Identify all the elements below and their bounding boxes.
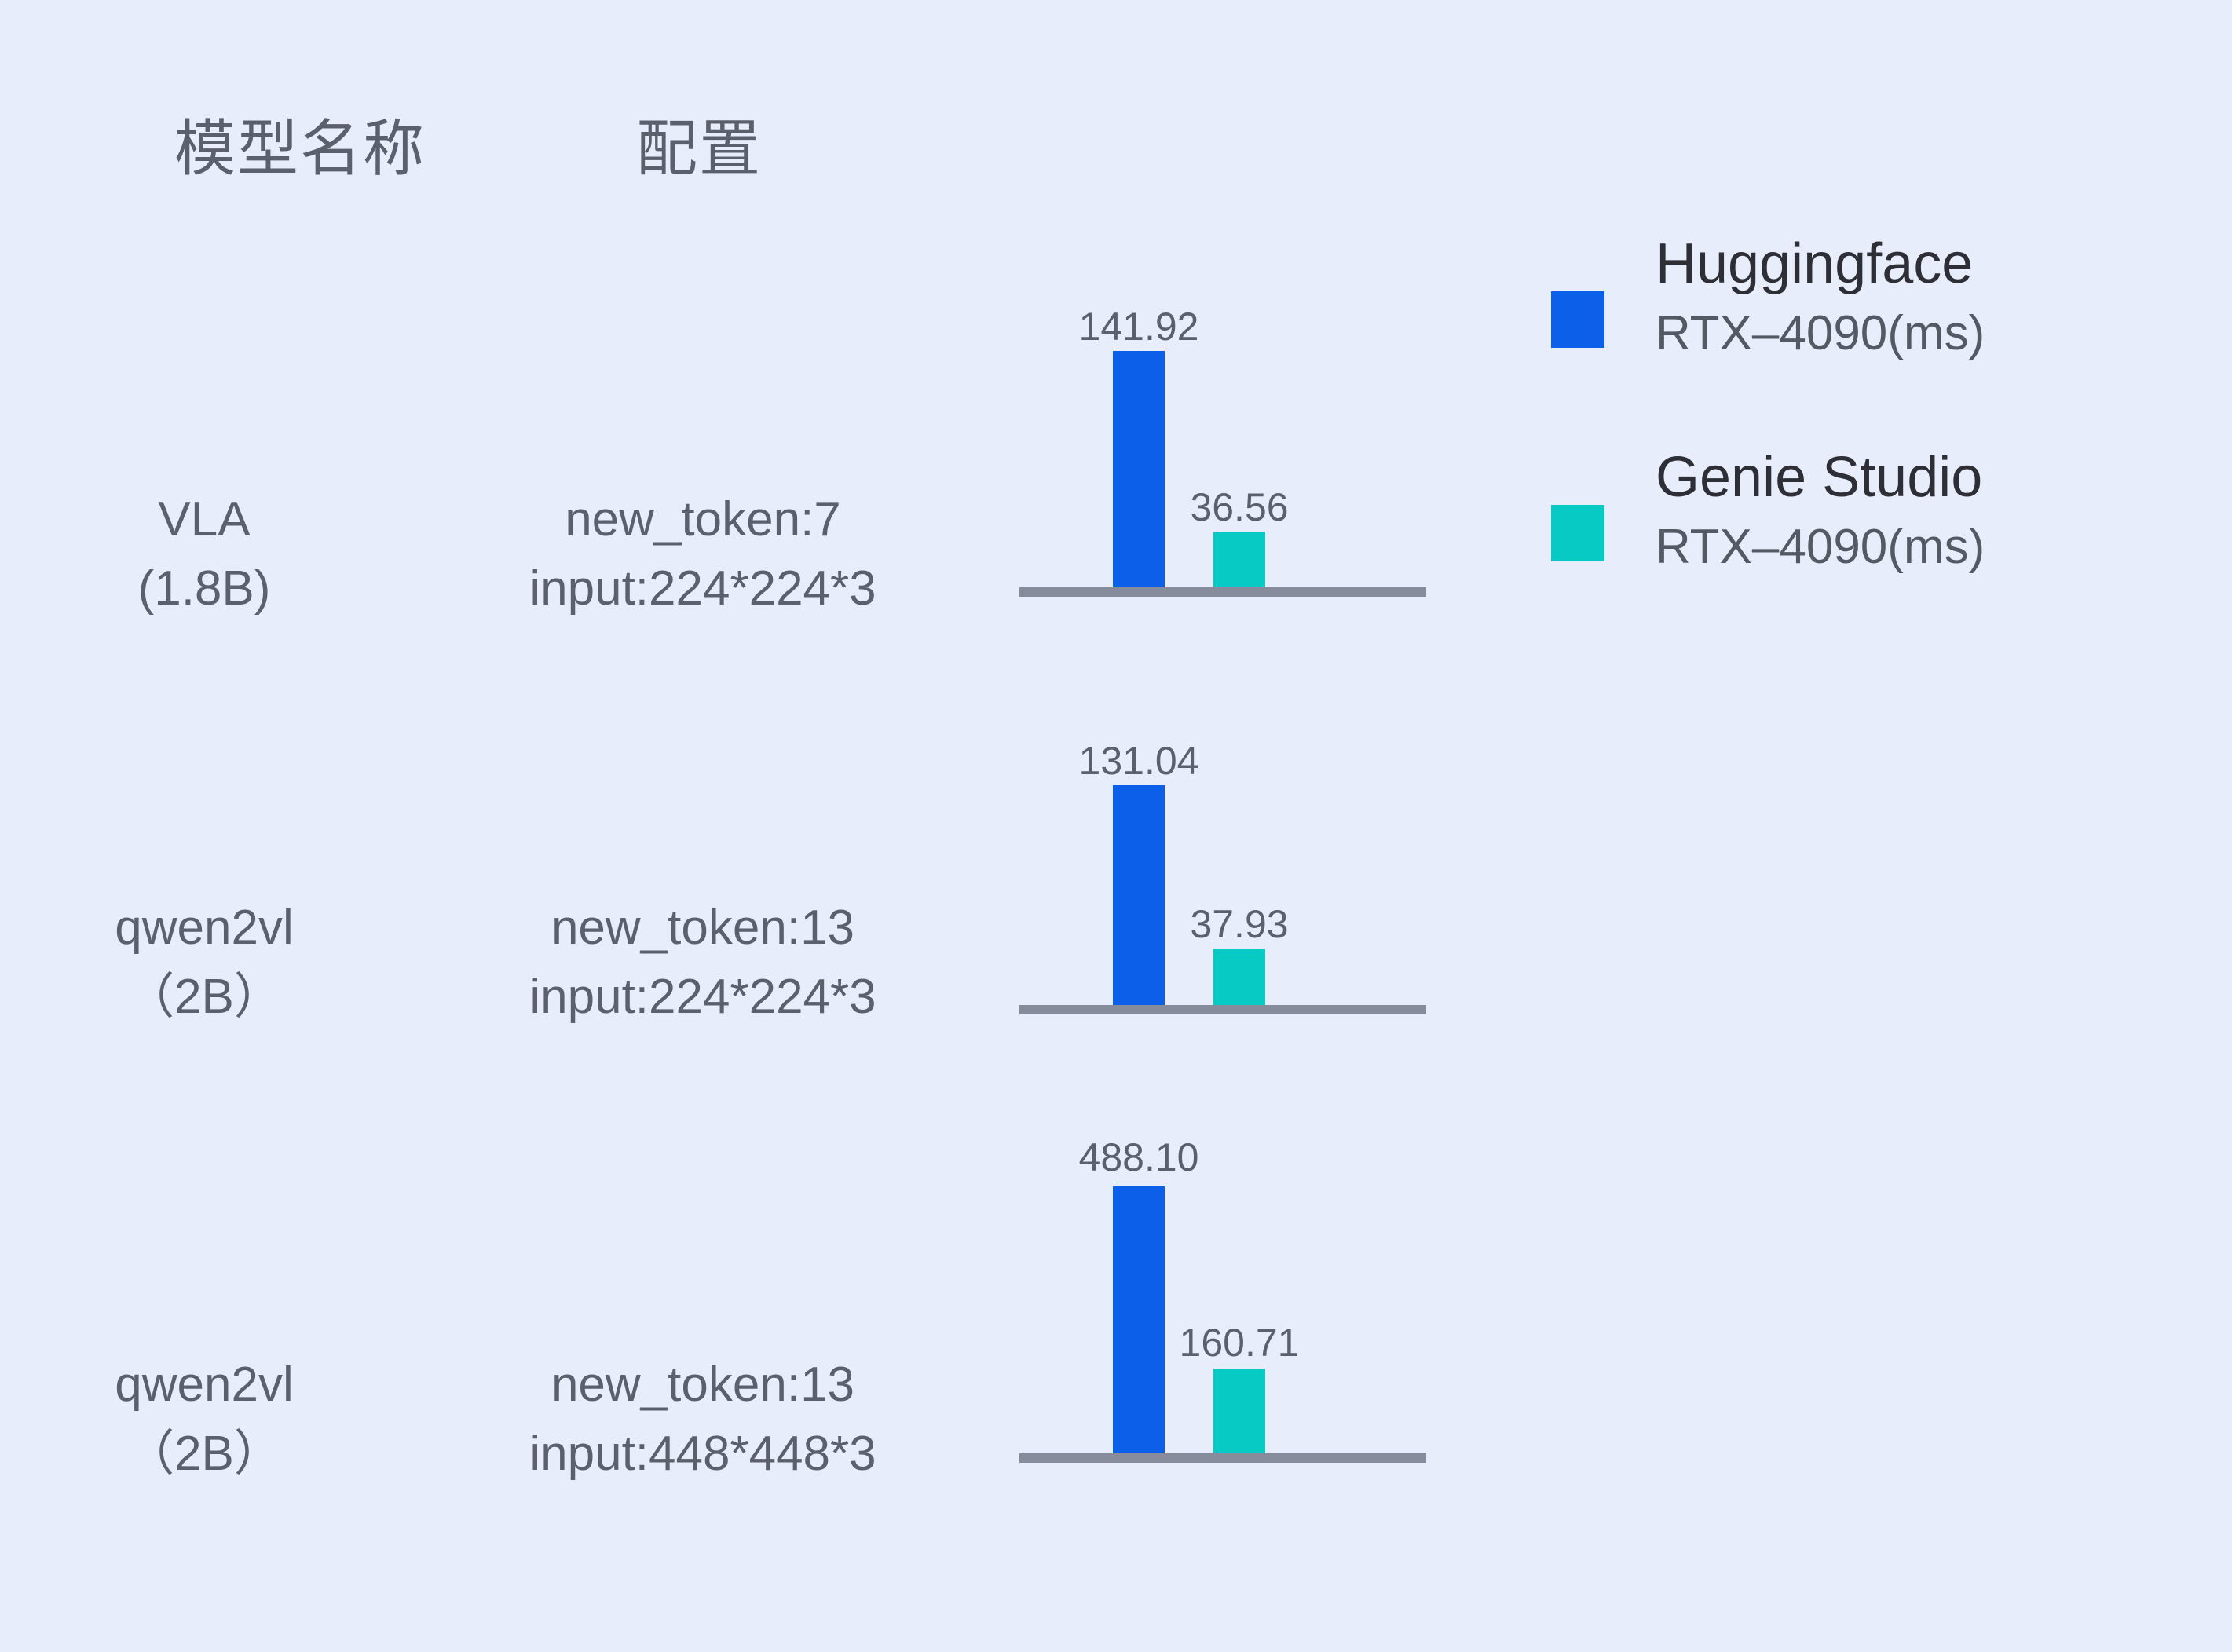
axis-baseline [1019,1005,1426,1014]
legend-item-text: Huggingface RTX–4090(ms) [1656,236,2158,358]
config-cell: new_token:7 input:224*224*3 [471,485,935,623]
model-name-cell: VLA (1.8B) [94,485,314,623]
model-name-line-2: （2B） [94,963,314,1032]
legend-swatch-icon [1551,505,1604,561]
config-cell: new_token:13 input:224*224*3 [471,894,935,1032]
legend-item-huggingface[interactable]: Huggingface RTX–4090(ms) [1551,236,2179,393]
axis-baseline [1019,587,1426,597]
model-name-line-1: qwen2vl [94,894,314,963]
bar-value-label-huggingface: 488.10 [1079,1138,1199,1177]
config-line-2: input:224*224*3 [471,963,935,1032]
model-name-line-2: （2B） [94,1420,314,1489]
legend-swatch-icon [1551,291,1604,348]
legend-item-genie-studio[interactable]: Genie Studio RTX–4090(ms) [1551,449,2179,606]
config-line-1: new_token:13 [471,1350,935,1420]
bar-genie-studio[interactable] [1213,1369,1265,1458]
config-line-1: new_token:13 [471,894,935,963]
bar-plot: 141.92 36.56 [1019,236,1426,597]
legend-item-subtitle: RTX–4090(ms) [1656,523,2158,572]
bar-huggingface[interactable] [1113,785,1165,1010]
bar-value-label-huggingface: 131.04 [1079,741,1199,780]
model-name-line-1: VLA [94,485,314,554]
chart-row: qwen2vl （2B） new_token:13 input:448*448*… [0,1099,2232,1523]
model-name-line-1: qwen2vl [94,1350,314,1420]
legend-item-title: Genie Studio [1656,449,2158,506]
config-line-2: input:448*448*3 [471,1420,935,1489]
bar-plot: 488.10 160.71 [1019,1099,1426,1463]
legend-item-title: Huggingface [1656,236,2158,292]
legend-item-text: Genie Studio RTX–4090(ms) [1656,449,2158,572]
bar-value-label-genie-studio: 36.56 [1190,488,1288,527]
bar-genie-studio[interactable] [1213,949,1265,1010]
bar-value-label-huggingface: 141.92 [1079,307,1199,346]
chart-row: qwen2vl （2B） new_token:13 input:224*224*… [0,660,2232,1084]
legend-item-subtitle: RTX–4090(ms) [1656,309,2158,358]
config-line-2: input:224*224*3 [471,554,935,623]
bar-value-label-genie-studio: 37.93 [1190,905,1288,944]
bar-huggingface[interactable] [1113,1186,1165,1462]
axis-baseline [1019,1453,1426,1463]
bar-plot: 131.04 37.93 [1019,660,1426,1014]
bar-value-label-genie-studio: 160.71 [1180,1323,1300,1362]
model-name-cell: qwen2vl （2B） [94,894,314,1032]
config-cell: new_token:13 input:448*448*3 [471,1350,935,1489]
bar-huggingface[interactable] [1113,351,1165,592]
config-line-1: new_token:7 [471,485,935,554]
bar-genie-studio[interactable] [1213,532,1265,592]
model-name-cell: qwen2vl （2B） [94,1350,314,1489]
model-name-line-2: (1.8B) [94,554,314,623]
